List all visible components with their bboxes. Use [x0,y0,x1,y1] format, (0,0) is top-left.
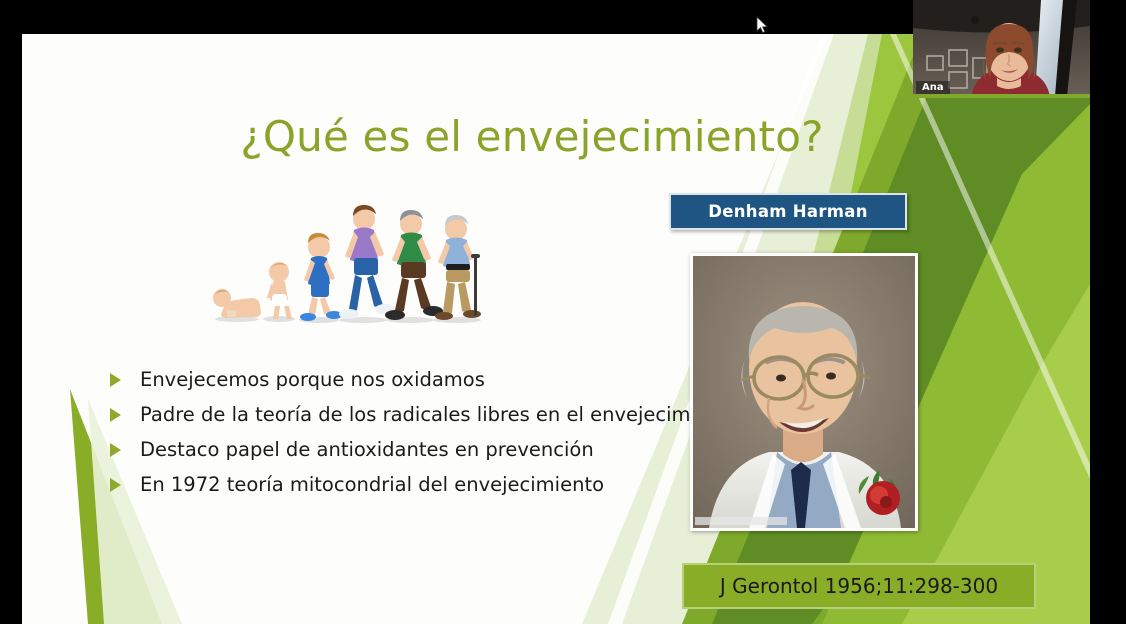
triangle-bullet-icon [110,408,121,422]
aging-progression-illustration [207,194,489,329]
webcam-active-speaker-bar [913,94,1090,98]
list-item: Destaco papel de antioxidantes en preven… [110,432,730,467]
list-item: Padre de la teoría de los radicales libr… [110,397,730,432]
list-item: En 1972 teoría mitocondrial del envejeci… [110,467,730,502]
citation-label: J Gerontol 1956;11:298-300 [720,574,998,598]
list-item-label: En 1972 teoría mitocondrial del envejeci… [140,475,604,495]
mouse-cursor-icon [756,16,768,34]
triangle-bullet-icon [110,443,121,457]
triangle-bullet-icon [110,478,121,492]
photo-credit-strip [695,517,787,525]
person-name-label: Denham Harman [708,202,868,221]
webcam-video-tile[interactable]: Ana [913,0,1090,98]
list-item-label: Envejecemos porque nos oxidamos [140,370,485,390]
bullet-list: Envejecemos porque nos oxidamos Padre de… [110,362,730,502]
citation-box: J Gerontol 1956;11:298-300 [682,563,1036,609]
page-title: ¿Qué es el envejecimiento? [182,112,882,161]
presentation-slide: ¿Qué es el envejecimiento? [22,34,1090,624]
screen-capture: ¿Qué es el envejecimiento? [0,0,1126,624]
list-item: Envejecemos porque nos oxidamos [110,362,730,397]
portrait-photo [690,253,918,531]
triangle-bullet-icon [110,373,121,387]
person-name-banner: Denham Harman [669,193,907,230]
list-item-label: Destaco papel de antioxidantes en preven… [140,440,594,460]
list-item-label: Padre de la teoría de los radicales libr… [140,405,740,425]
participant-name-label: Ana [916,81,950,95]
